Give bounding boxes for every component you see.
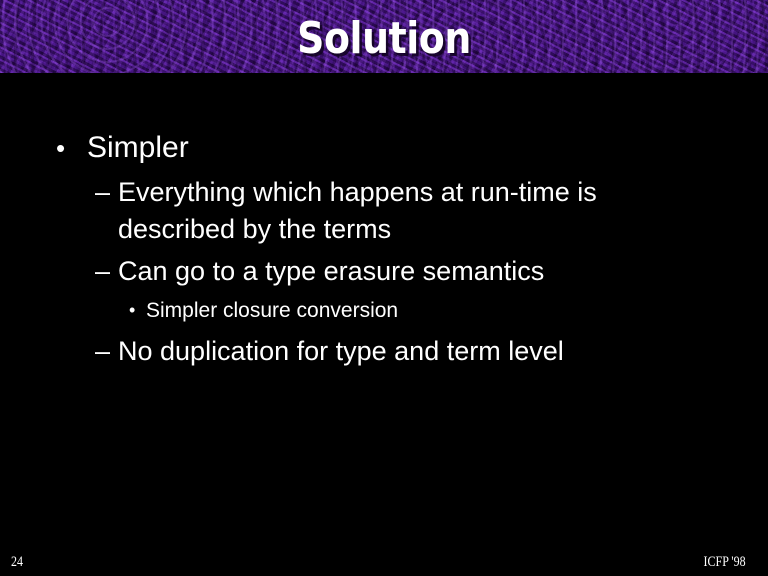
dash-marker-icon: – (95, 253, 118, 290)
bullet-text: Can go to a type erasure semantics (118, 253, 695, 290)
bullet-text: Simpler (87, 129, 696, 167)
footer-conference-label: ICFP '98 (704, 553, 746, 571)
bullet-item-level2-type-erasure: – Can go to a type erasure semantics (95, 253, 695, 290)
bullet-item-level2-everything: – Everything which happens at run-time i… (95, 174, 695, 248)
title-banner: Solution (0, 0, 768, 73)
slide-number: 24 (11, 553, 23, 571)
bullet-item-level3-closure-conversion: • Simpler closure conversion (129, 296, 669, 325)
slide-body: • Simpler – Everything which happens at … (0, 73, 768, 543)
dash-marker-icon: – (95, 333, 118, 370)
bullet-marker-icon: • (56, 129, 87, 167)
bullet-marker-icon: • (129, 296, 146, 325)
bullet-item-level2-no-duplication: – No duplication for type and term level (95, 333, 695, 370)
dash-marker-icon: – (95, 174, 118, 211)
bullet-text: Simpler closure conversion (146, 296, 669, 325)
bullet-item-level1-simpler: • Simpler (56, 129, 696, 167)
bullet-text: No duplication for type and term level (118, 333, 695, 370)
page-title: Solution (54, 14, 714, 64)
presentation-slide: Solution • Simpler – Everything which ha… (0, 0, 768, 576)
bullet-text: Everything which happens at run-time is … (118, 174, 695, 248)
